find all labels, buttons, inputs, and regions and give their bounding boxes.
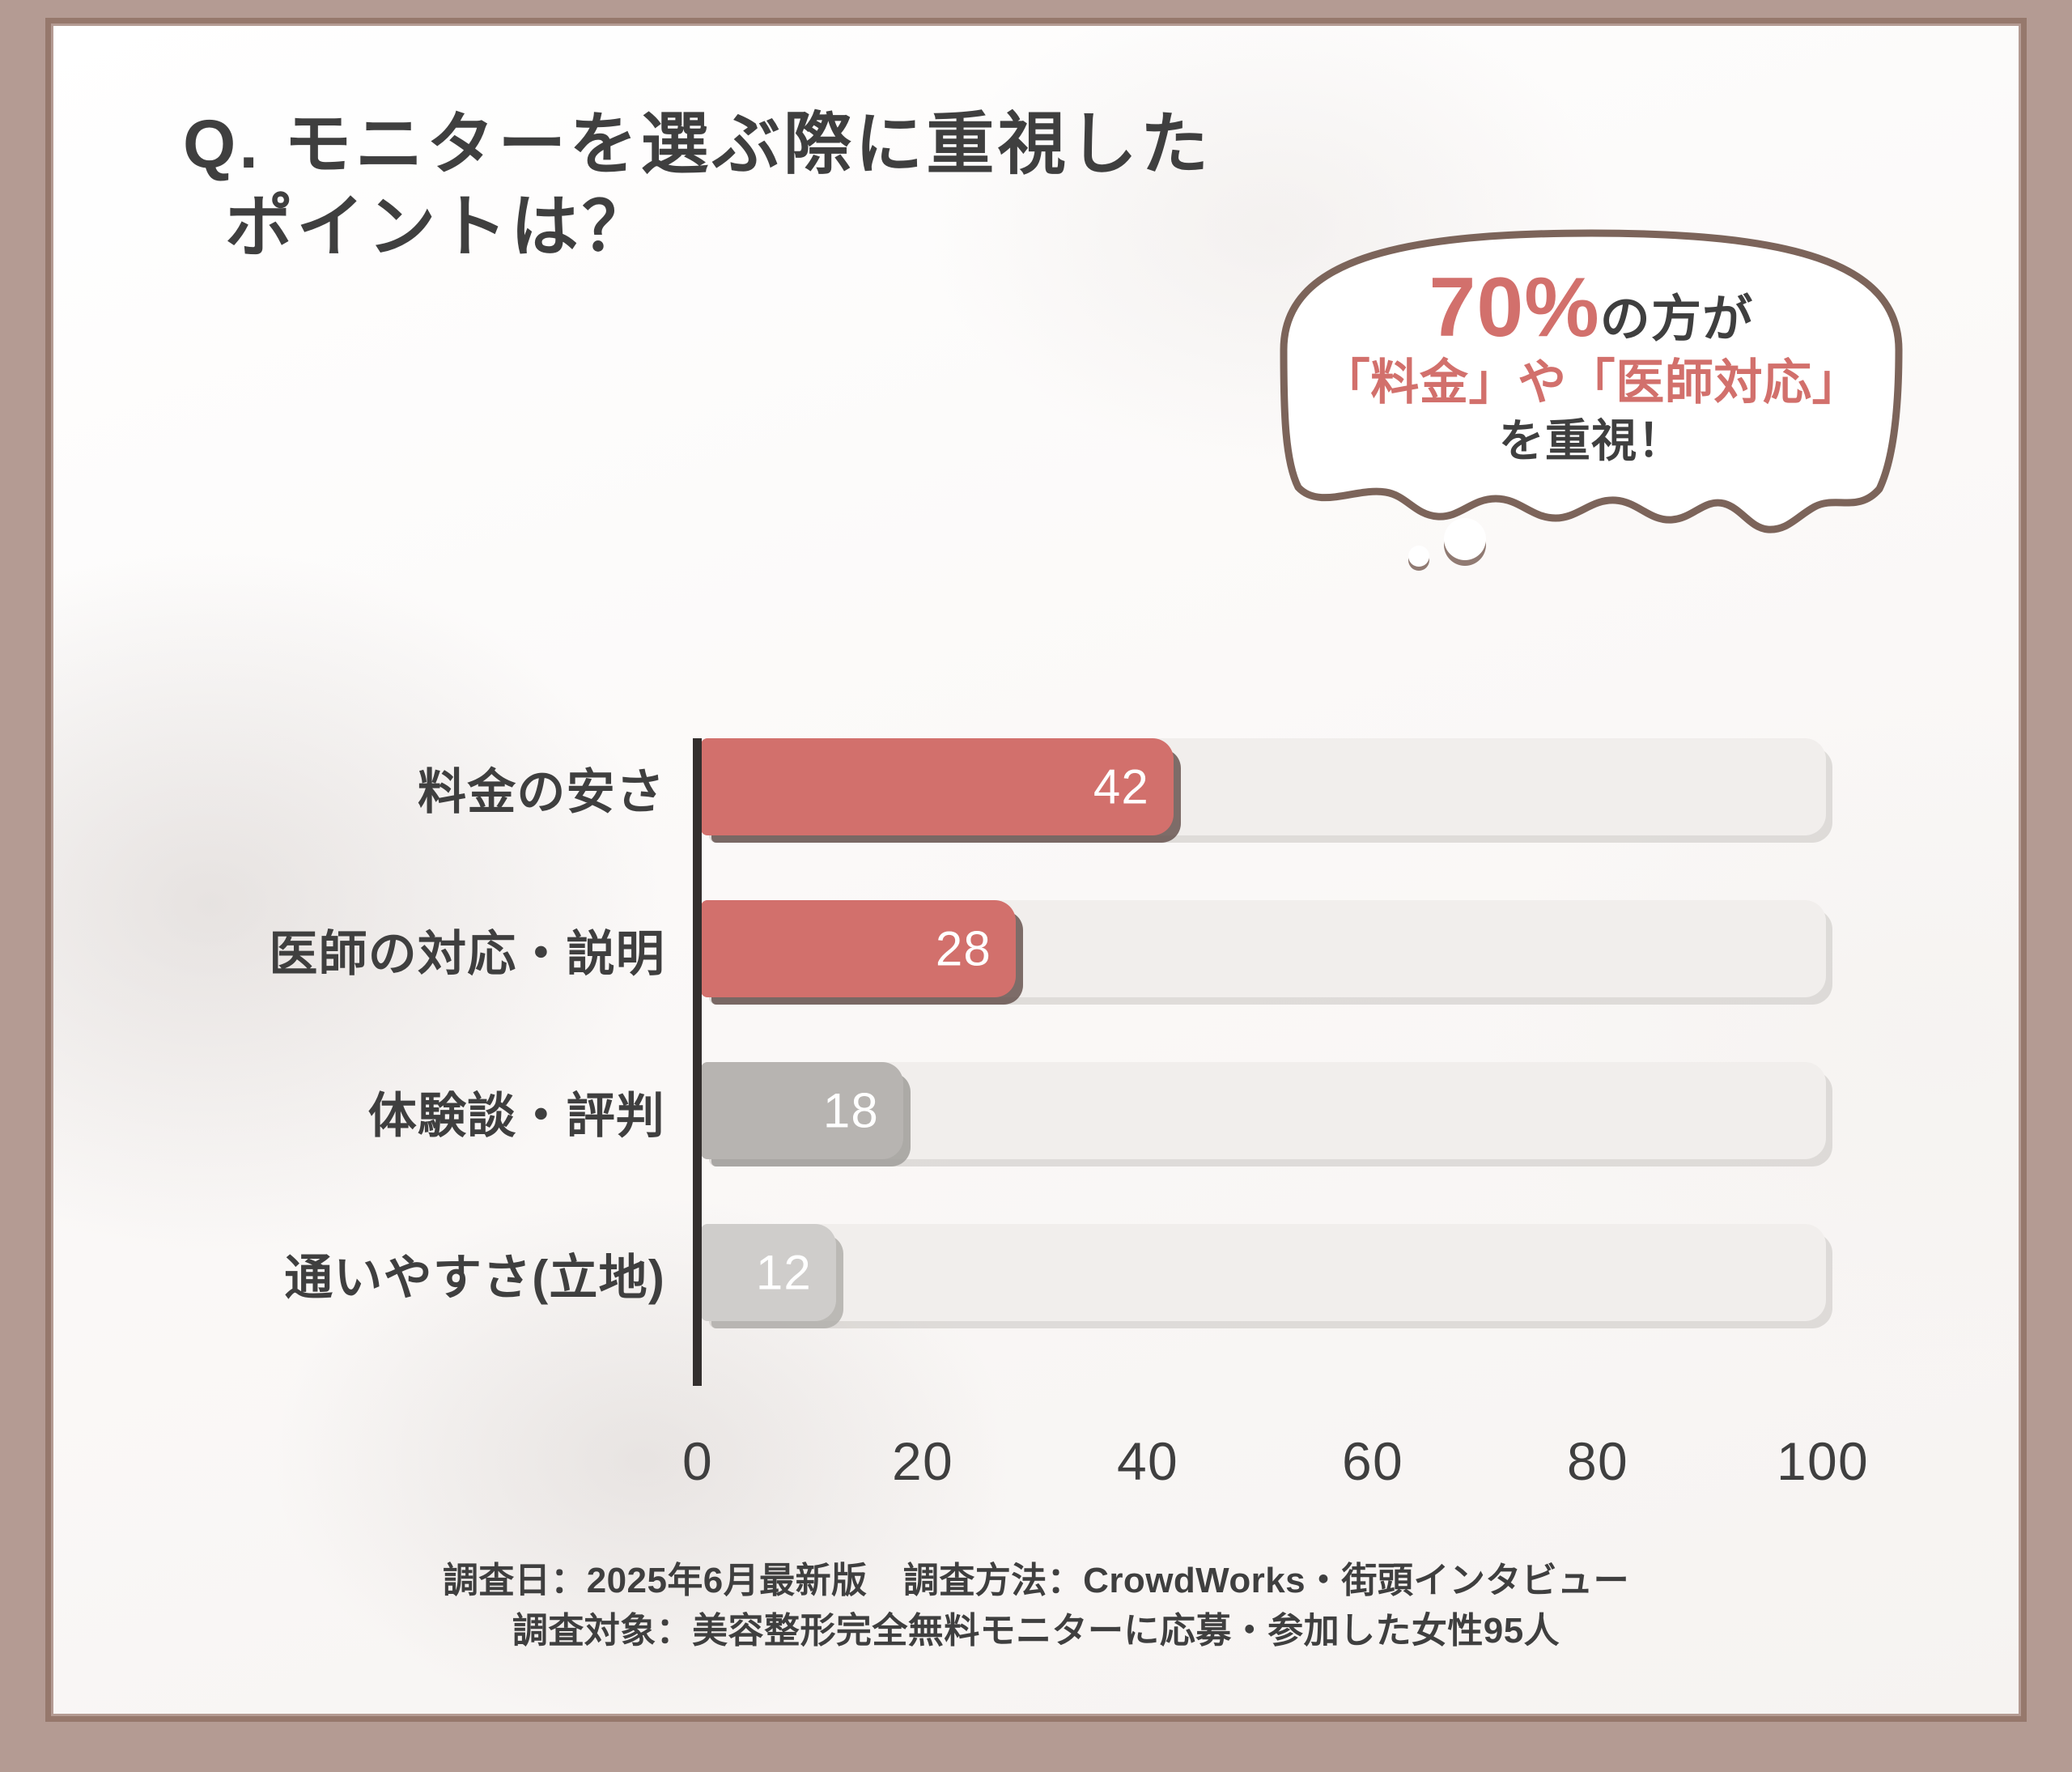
bar-category-label: 体験談・評判	[368, 1077, 665, 1147]
bar-value-label: 28	[936, 921, 991, 977]
x-axis-tick: 80	[1567, 1430, 1628, 1492]
infographic-card: Q. モニターを選ぶ際に重視した ポイントは？ 70%の方が 「料金」や「医師対…	[53, 26, 2019, 1714]
bar-track	[701, 1224, 1826, 1321]
bar-value-label: 42	[1093, 759, 1149, 815]
survey-meta-line-1: 調査日：2025年6月最新版 調査方法：CrowdWorks・街頭インタビュー	[53, 1556, 2019, 1606]
x-axis-tick: 20	[892, 1430, 953, 1492]
bar-row: 28	[701, 900, 1016, 997]
x-axis-tick: 100	[1777, 1430, 1869, 1492]
y-axis-line	[693, 738, 702, 1386]
bar-category-label: 料金の安さ	[418, 753, 665, 823]
bar-row: 12	[701, 1224, 836, 1321]
bar-chart: 料金の安さ 医師の対応・説明 体験談・評判 通いやすさ(立地) 42 28 18…	[53, 26, 2019, 1714]
x-axis-tick: 60	[1342, 1430, 1403, 1492]
bar-category-label: 医師の対応・説明	[269, 915, 665, 985]
survey-meta-line-2: 調査対象：美容整形完全無料モニターに応募・参加した女性95人	[53, 1606, 2019, 1656]
survey-meta: 調査日：2025年6月最新版 調査方法：CrowdWorks・街頭インタビュー …	[53, 1556, 2019, 1657]
bar-value-label: 12	[756, 1245, 812, 1301]
bar-row: 42	[701, 738, 1174, 835]
x-axis-tick: 0	[682, 1430, 713, 1492]
x-axis-tick: 40	[1117, 1430, 1178, 1492]
bar-row: 18	[701, 1062, 903, 1159]
bar-value-label: 18	[823, 1083, 879, 1139]
bar-category-label: 通いやすさ(立地)	[284, 1239, 665, 1309]
